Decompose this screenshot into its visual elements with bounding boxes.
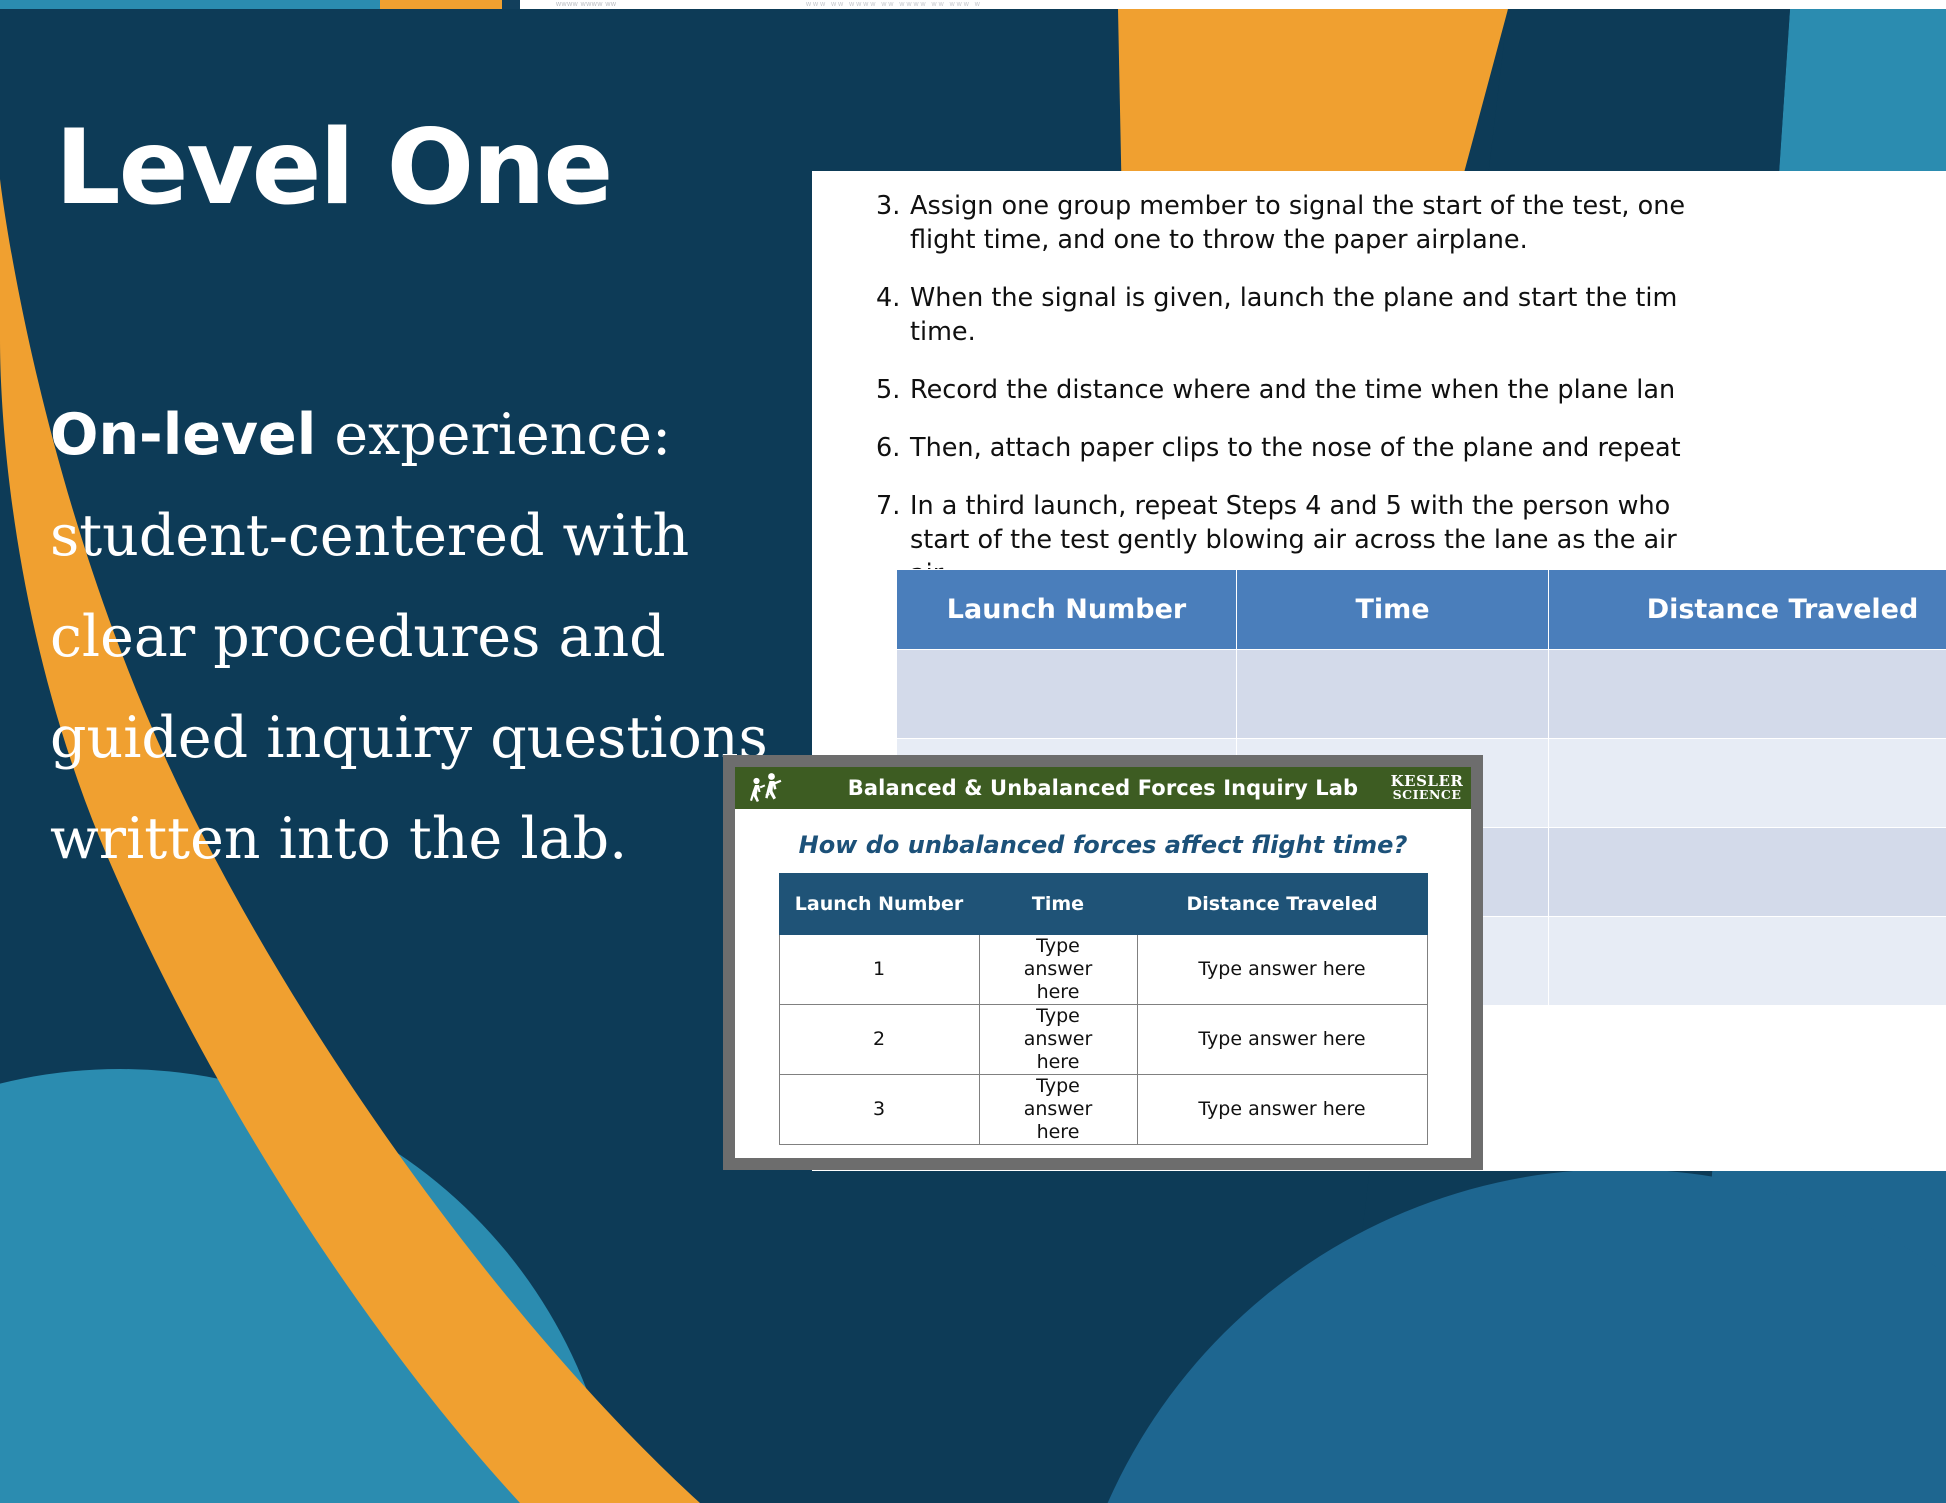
table-cell [1549,650,1946,739]
table-row: 2 Type answer here Type answer here [779,1005,1427,1075]
column-header-launch-number: Launch Number [897,570,1237,650]
page-title: Level One [55,116,611,220]
table-cell [1549,739,1946,828]
step-line: Record the distance where and the time w… [910,373,1946,407]
worksheet-step: 5. Record the distance where and the tim… [842,373,1946,407]
card-title: Balanced & Unbalanced Forces Inquiry Lab [848,776,1358,800]
body-lead-emphasis: On-level [50,402,316,468]
step-line: start of the test gently blowing air acr… [910,523,1946,557]
column-header-distance-traveled: Distance Traveled [1549,570,1946,650]
table-cell [1237,650,1549,739]
strip-ghost-text-left: wwww wwww ww [556,0,736,9]
table-row [897,650,1946,739]
card-header-bar: Balanced & Unbalanced Forces Inquiry Lab… [735,767,1471,809]
table-row: 3 Type answer here Type answer here [779,1075,1427,1145]
strip-segment-orange [380,0,502,9]
strip-ghost-text-right: www ww wwww ww wwww ww www w [806,0,1426,9]
cell-launch-number: 2 [779,1005,979,1075]
column-header-time: Time [1237,570,1549,650]
step-number: 7. [876,489,916,523]
column-header-time: Time [979,874,1137,935]
step-number: 6. [876,431,916,465]
cell-distance-input[interactable]: Type answer here [1137,935,1427,1005]
table-row: 1 Type answer here Type answer here [779,935,1427,1005]
step-line: Then, attach paper clips to the nose of … [910,431,1946,465]
step-line: flight time, and one to throw the paper … [910,223,1946,257]
body-rest: experience: student-centered with clear … [50,402,768,872]
logo-line-2: SCIENCE [1393,789,1462,802]
step-number: 3. [876,189,916,223]
step-line: time. [910,315,1946,349]
worksheet-step: 4. When the signal is given, launch the … [842,281,1946,349]
table-header-row: Launch Number Time Distance Traveled [779,874,1427,935]
step-number: 4. [876,281,916,315]
table-cell [1549,828,1946,917]
cell-time-input[interactable]: Type answer here [979,935,1137,1005]
slide-canvas: Level One On-level experience: student-c… [0,0,1946,1503]
column-header-distance-traveled: Distance Traveled [1137,874,1427,935]
cell-distance-input[interactable]: Type answer here [1137,1075,1427,1145]
inquiry-lab-card-inner: Balanced & Unbalanced Forces Inquiry Lab… [735,767,1471,1158]
body-paragraph: On-level experience: student-centered wi… [50,385,790,890]
worksheet-step: 6. Then, attach paper clips to the nose … [842,431,1946,465]
table-cell [1549,917,1946,1006]
worksheet-step: 3. Assign one group member to signal the… [842,189,1946,257]
table-header-row: Launch Number Time Distance Traveled [897,570,1946,650]
strip-segment-teal [0,0,380,9]
cell-distance-input[interactable]: Type answer here [1137,1005,1427,1075]
inquiry-lab-card: Balanced & Unbalanced Forces Inquiry Lab… [723,755,1483,1170]
cell-time-input[interactable]: Type answer here [979,1075,1137,1145]
column-header-launch-number: Launch Number [779,874,979,935]
cell-launch-number: 3 [779,1075,979,1145]
step-line: When the signal is given, launch the pla… [910,281,1946,315]
runners-icon [747,770,785,806]
kesler-science-logo: KESLER SCIENCE [1391,769,1463,807]
top-sliver-strip: wwww wwww ww www ww wwww ww wwww ww www … [0,0,1946,9]
cell-time-input[interactable]: Type answer here [979,1005,1137,1075]
card-data-table[interactable]: Launch Number Time Distance Traveled 1 T… [779,873,1428,1145]
step-line: Assign one group member to signal the st… [910,189,1946,223]
worksheet-step-list: 3. Assign one group member to signal the… [842,189,1946,615]
cell-launch-number: 1 [779,935,979,1005]
strip-segment-navy [502,0,520,9]
step-line: In a third launch, repeat Steps 4 and 5 … [910,489,1946,523]
table-cell [897,650,1237,739]
inquiry-question: How do unbalanced forces affect flight t… [735,831,1471,859]
step-number: 5. [876,373,916,407]
